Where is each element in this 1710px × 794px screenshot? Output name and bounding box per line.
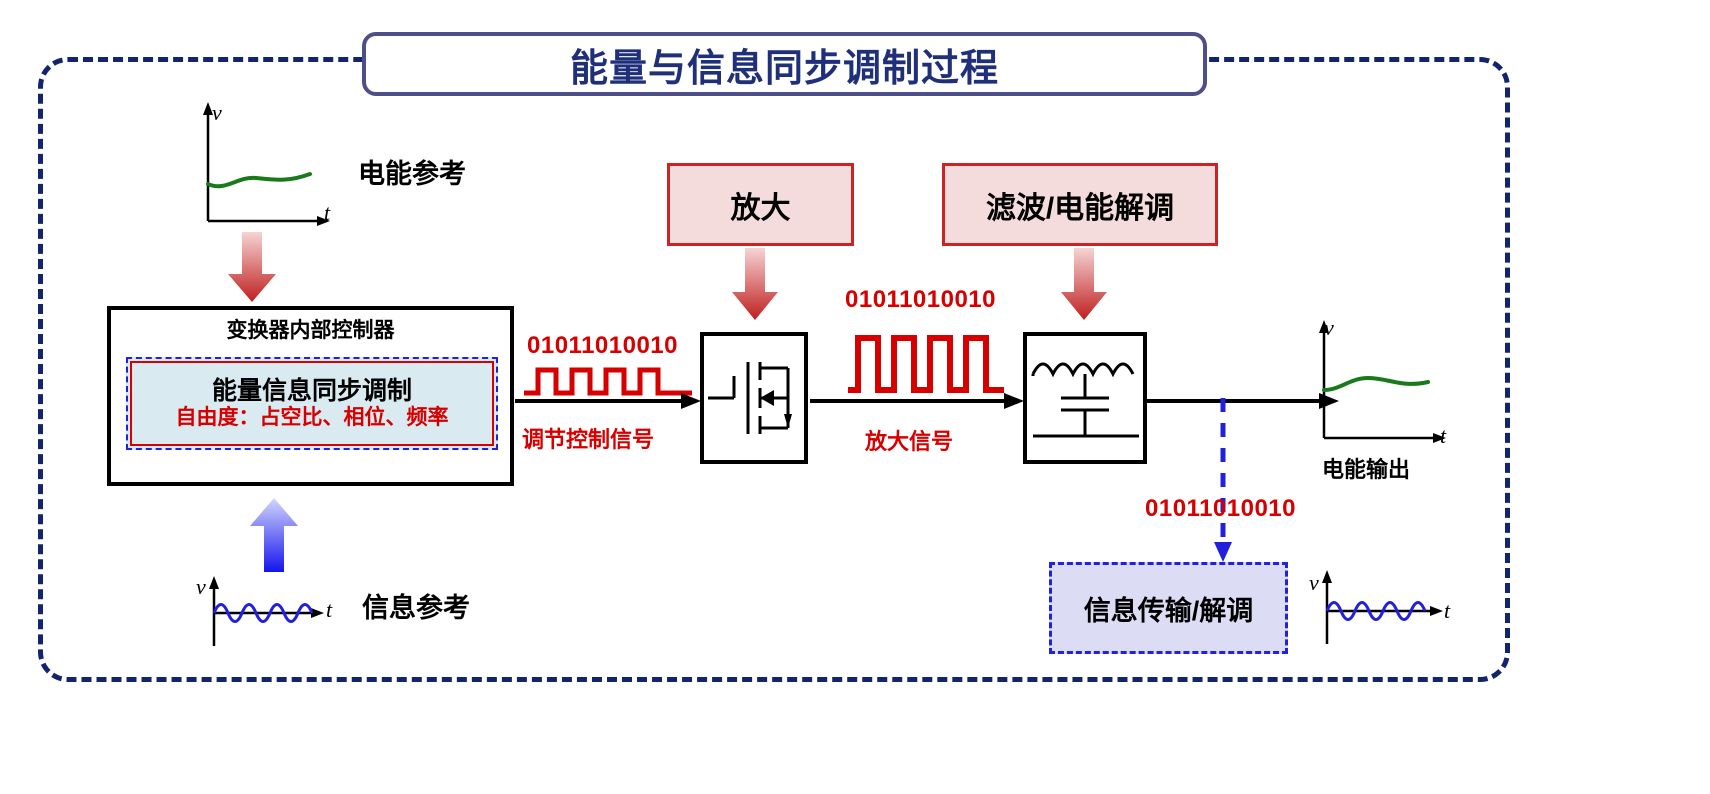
power-ref-axis-t: t bbox=[324, 200, 330, 226]
controller-to-mosfet-arrow bbox=[515, 390, 705, 412]
sync-modulation-dof: 自由度：占空比、相位、频率 bbox=[176, 406, 449, 430]
power-reference-label: 电能参考 bbox=[358, 152, 466, 191]
amplify-block: 放大 bbox=[667, 163, 854, 246]
mosfet-to-filter-arrow bbox=[810, 390, 1028, 412]
lc-filter-block bbox=[1023, 332, 1147, 464]
info-ref-axis-v: v bbox=[196, 574, 206, 600]
amplified-pwm-waveform bbox=[848, 330, 1008, 396]
info-ref-axis-t: t bbox=[326, 597, 332, 623]
binary-information-signal: 01011010010 bbox=[1145, 495, 1296, 523]
filter-demod-block: 滤波/电能解调 bbox=[942, 163, 1218, 246]
sync-modulation-inner-box: 能量信息同步调制 自由度：占空比、相位、频率 bbox=[126, 357, 498, 450]
diagram-title-plate: 能量与信息同步调制过程 bbox=[362, 32, 1207, 96]
controller-heading: 变换器内部控制器 bbox=[107, 312, 514, 346]
diagram-canvas: 能量与信息同步调制过程 v t 电能参考 变换器内部控制器 能量 bbox=[0, 0, 1710, 794]
demod-axis-t: t bbox=[1444, 598, 1450, 624]
demod-axis-v: v bbox=[1309, 570, 1319, 596]
filter-down-arrow-icon bbox=[1058, 248, 1110, 322]
output-axis-v: v bbox=[1324, 315, 1334, 341]
control-signal-label: 调节控制信号 bbox=[522, 422, 654, 454]
power-output-label: 电能输出 bbox=[1322, 452, 1410, 484]
binary-control-signal: 01011010010 bbox=[527, 332, 678, 360]
power-ref-axis-v: v bbox=[212, 100, 222, 126]
info-tap-dashed-arrow bbox=[1212, 398, 1234, 566]
info-transmission-block: 信息传输/解调 bbox=[1049, 562, 1288, 654]
power-ref-down-arrow-icon bbox=[224, 232, 280, 304]
output-axis-t: t bbox=[1440, 423, 1446, 449]
amplified-signal-label: 放大信号 bbox=[865, 424, 953, 456]
page-title: 能量与信息同步调制过程 bbox=[570, 37, 999, 92]
amplify-down-arrow-icon bbox=[729, 248, 781, 322]
sync-modulation-title: 能量信息同步调制 bbox=[212, 377, 412, 405]
mosfet-switch-block bbox=[700, 332, 808, 464]
binary-amplified-signal: 01011010010 bbox=[845, 286, 996, 314]
info-reference-label: 信息参考 bbox=[362, 586, 470, 625]
